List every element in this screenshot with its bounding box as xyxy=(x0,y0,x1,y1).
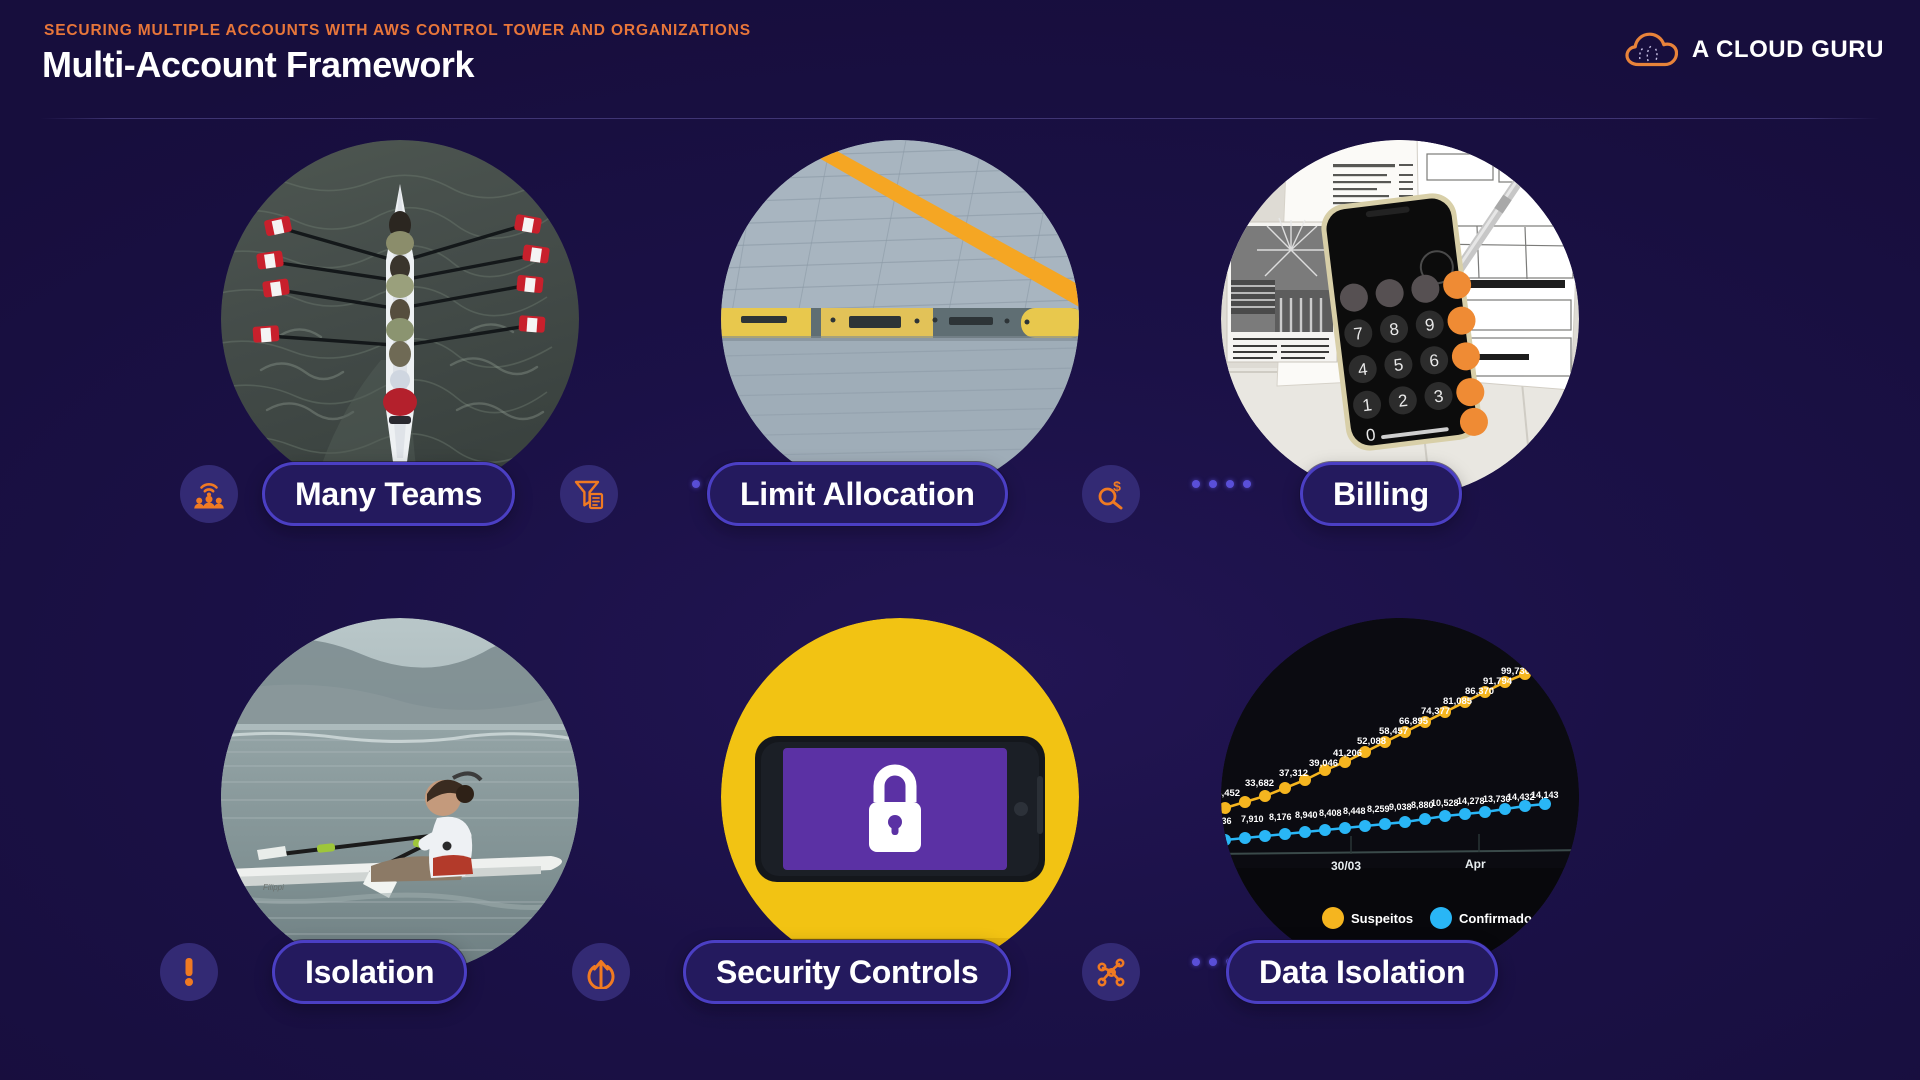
card-security-controls[interactable]: Security Controls xyxy=(690,610,1110,1030)
svg-text:58,457: 58,457 xyxy=(1379,726,1408,737)
svg-text:9,038: 9,038 xyxy=(1389,802,1412,812)
slide-canvas: SECURING MULTIPLE ACCOUNTS WITH AWS CONT… xyxy=(0,0,1920,1080)
pill-label: Limit Allocation xyxy=(740,476,975,513)
svg-text:6,836: 6,836 xyxy=(1221,816,1232,826)
photo-single-sculler: Filippi xyxy=(221,618,579,976)
label-pill-isolation[interactable]: Isolation xyxy=(272,940,467,1004)
card-many-teams[interactable]: Many Teams xyxy=(190,132,610,552)
svg-text:Filippi: Filippi xyxy=(263,883,284,892)
photo-road-speed-bump xyxy=(721,140,1079,498)
header-eyebrow: SECURING MULTIPLE ACCOUNTS WITH AWS CONT… xyxy=(44,22,751,40)
svg-text:30/03: 30/03 xyxy=(1331,859,1361,873)
framework-row-2: Filippi xyxy=(0,610,1920,1030)
svg-text:8,259: 8,259 xyxy=(1367,804,1390,814)
svg-text:52,088: 52,088 xyxy=(1357,736,1386,747)
svg-text:7,910: 7,910 xyxy=(1241,814,1264,824)
svg-text:91,794: 91,794 xyxy=(1483,676,1513,687)
label-pill-security-controls[interactable]: Security Controls xyxy=(683,940,1011,1004)
svg-text:8,176: 8,176 xyxy=(1269,812,1292,822)
upload-refresh-arrow-icon xyxy=(572,943,630,1001)
pill-label: Isolation xyxy=(305,954,434,991)
svg-text:28,452: 28,452 xyxy=(1221,788,1240,799)
page-title: Multi-Account Framework xyxy=(42,44,474,86)
cloud-outline-icon xyxy=(1624,30,1678,70)
photo-dark-line-chart: /03 30/03 Apr xyxy=(1221,618,1579,976)
svg-text:Apr: Apr xyxy=(1465,857,1486,871)
svg-text:/03: /03 xyxy=(1221,861,1234,875)
svg-text:8,408: 8,408 xyxy=(1319,808,1342,818)
funnel-document-icon xyxy=(560,465,618,523)
label-pill-limit-allocation[interactable]: Limit Allocation xyxy=(707,462,1008,526)
svg-text:14,278: 14,278 xyxy=(1457,796,1485,806)
card-billing[interactable]: 789 456 123 0 $ xyxy=(1190,132,1610,552)
photo-phone-calculator-tax-forms: 789 456 123 0 xyxy=(1221,140,1579,498)
brand-name: A CLOUD GURU xyxy=(1692,36,1884,64)
svg-text:41,206: 41,206 xyxy=(1333,748,1362,759)
svg-text:33,682: 33,682 xyxy=(1245,778,1274,789)
label-pill-data-isolation[interactable]: Data Isolation xyxy=(1226,940,1498,1004)
pill-label: Data Isolation xyxy=(1259,954,1465,991)
network-nodes-icon xyxy=(1082,943,1140,1001)
svg-text:81,085: 81,085 xyxy=(1443,696,1473,707)
pill-label: Security Controls xyxy=(716,954,978,991)
svg-text:10,528: 10,528 xyxy=(1431,798,1459,808)
card-data-isolation[interactable]: /03 30/03 Apr xyxy=(1190,610,1610,1030)
card-isolation[interactable]: Filippi xyxy=(190,610,610,1030)
svg-text:37,312: 37,312 xyxy=(1279,768,1308,779)
brand-logo: A CLOUD GURU xyxy=(1624,30,1884,70)
framework-row-1: Many Teams xyxy=(0,132,1920,552)
svg-text:99,730: 99,730 xyxy=(1501,666,1530,677)
svg-text:$: $ xyxy=(1113,478,1121,494)
svg-text:74,377: 74,377 xyxy=(1421,706,1450,717)
team-signal-icon xyxy=(180,465,238,523)
svg-text:Suspeitos: Suspeitos xyxy=(1351,911,1413,926)
svg-text:86,370: 86,370 xyxy=(1465,686,1494,697)
pill-label: Billing xyxy=(1333,476,1429,513)
photo-phone-lock-yellow xyxy=(721,618,1079,976)
svg-text:14,143: 14,143 xyxy=(1531,790,1559,800)
pill-label: Many Teams xyxy=(295,476,482,513)
svg-text:Confirmados: Confirmados xyxy=(1459,911,1539,926)
photo-rowing-crew xyxy=(221,140,579,498)
slide-header: SECURING MULTIPLE ACCOUNTS WITH AWS CONT… xyxy=(0,0,1920,120)
label-pill-billing[interactable]: Billing xyxy=(1300,462,1462,526)
svg-text:39,046: 39,046 xyxy=(1309,758,1338,769)
svg-text:66,895: 66,895 xyxy=(1399,716,1429,727)
svg-text:8,448: 8,448 xyxy=(1343,806,1366,816)
svg-text:8,940: 8,940 xyxy=(1295,810,1318,820)
label-pill-many-teams[interactable]: Many Teams xyxy=(262,462,515,526)
exclamation-icon xyxy=(160,943,218,1001)
magnifier-dollar-icon: $ xyxy=(1082,465,1140,523)
header-divider xyxy=(40,118,1880,119)
card-limit-allocation[interactable]: Limit Allocation xyxy=(690,132,1110,552)
